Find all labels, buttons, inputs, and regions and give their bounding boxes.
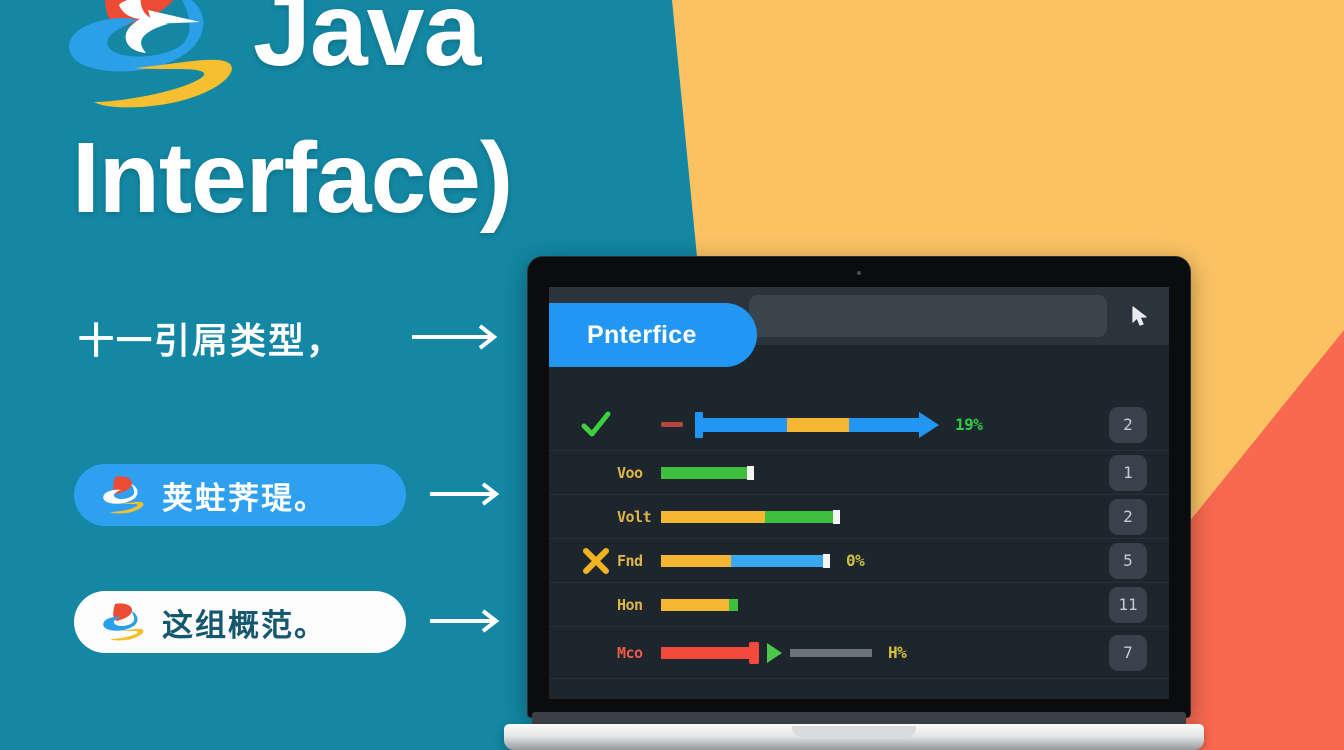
right-arrow-icon-2	[428, 480, 510, 508]
progress-segment	[731, 555, 823, 567]
progress-percent-label: 19%	[955, 415, 982, 434]
progress-segment	[849, 418, 919, 432]
progress-percent-label: H%	[888, 643, 906, 662]
tab-pnterfice[interactable]: Pnterfice	[549, 303, 757, 367]
progress-percent-label: 0%	[846, 551, 864, 570]
progress-bar[interactable]	[661, 418, 939, 432]
bar-start-cap	[695, 412, 703, 438]
dash-marker	[661, 422, 683, 427]
java-duke-logo	[60, 0, 245, 122]
laptop-lid: Pnterfice 19%2Voo1Volt2Fnd0%5Hon11McoH%7	[527, 256, 1191, 718]
java-duke-logo-small-blue	[102, 475, 146, 515]
feature-pill-blue[interactable]: 荚蛀荠瑅。	[74, 464, 406, 526]
slider-handle[interactable]	[749, 642, 759, 664]
progress-row[interactable]: 19%2	[549, 399, 1169, 451]
progress-row[interactable]: Voo1	[549, 451, 1169, 495]
cursor-icon[interactable]	[1129, 305, 1151, 329]
progress-row[interactable]: Hon11	[549, 583, 1169, 627]
progress-row[interactable]: Volt2	[549, 495, 1169, 539]
laptop-screen: Pnterfice 19%2Voo1Volt2Fnd0%5Hon11McoH%7	[549, 287, 1169, 699]
progress-bar[interactable]	[661, 598, 738, 612]
count-badge[interactable]: 5	[1109, 543, 1147, 579]
play-triangle-icon	[767, 643, 782, 663]
progress-row-label: Voo	[617, 464, 661, 482]
progress-row-label: Hon	[617, 596, 661, 614]
count-badge[interactable]: 7	[1109, 635, 1147, 671]
progress-bar[interactable]	[661, 554, 830, 568]
progress-row[interactable]: McoH%7	[549, 627, 1169, 679]
laptop-mockup: Pnterfice 19%2Voo1Volt2Fnd0%5Hon11McoH%7	[504, 246, 1204, 750]
progress-row-label: Volt	[617, 508, 661, 526]
bar-end-cap	[747, 466, 754, 480]
count-badge[interactable]: 11	[1109, 587, 1147, 623]
bar-end-cap	[833, 510, 840, 524]
progress-segment	[661, 467, 747, 479]
feature-caption-1-label: 十一引屌类型，	[78, 312, 344, 364]
progress-segment	[703, 418, 787, 432]
search-input[interactable]	[749, 295, 1107, 337]
progress-bar[interactable]	[661, 510, 840, 524]
progress-row-list: 19%2Voo1Volt2Fnd0%5Hon11McoH%7	[549, 399, 1169, 699]
progress-segment	[661, 555, 731, 567]
count-badge[interactable]: 2	[1109, 499, 1147, 535]
webcam-icon	[857, 271, 861, 275]
laptop-base-body	[504, 724, 1204, 750]
progress-segment	[729, 599, 738, 611]
progress-segment	[661, 511, 765, 523]
page-title-line2: Interface)	[72, 128, 512, 228]
feature-caption-1: 十一引屌类型，	[78, 312, 344, 364]
bar-end-cap	[823, 554, 830, 568]
java-duke-logo-small-white	[102, 602, 146, 642]
cross-icon	[575, 547, 617, 575]
progress-segment	[661, 599, 729, 611]
progress-row-label: Mco	[617, 644, 661, 662]
arrow-head-icon	[919, 412, 939, 438]
progress-segment	[787, 418, 849, 432]
tab-pnterfice-label: Pnterfice	[587, 321, 697, 350]
progress-row-label: Fnd	[617, 552, 661, 570]
count-badge[interactable]: 1	[1109, 455, 1147, 491]
progress-bar[interactable]	[661, 646, 872, 660]
right-arrow-icon-1	[410, 322, 508, 352]
progress-bar[interactable]	[661, 466, 754, 480]
progress-segment	[765, 511, 833, 523]
feature-pill-white-label: 这组概范。	[162, 600, 327, 645]
check-icon	[575, 411, 617, 439]
page-title-line1: Java	[253, 0, 480, 82]
feature-pill-blue-label: 荚蛀荠瑅。	[162, 473, 327, 518]
count-badge[interactable]: 2	[1109, 407, 1147, 443]
laptop-base-notch	[792, 726, 916, 737]
progress-row[interactable]: Fnd0%5	[549, 539, 1169, 583]
progress-segment	[790, 649, 872, 657]
laptop-base	[504, 716, 1204, 750]
feature-pill-white[interactable]: 这组概范。	[74, 591, 406, 653]
right-arrow-icon-3	[428, 607, 510, 635]
progress-segment	[661, 647, 749, 659]
